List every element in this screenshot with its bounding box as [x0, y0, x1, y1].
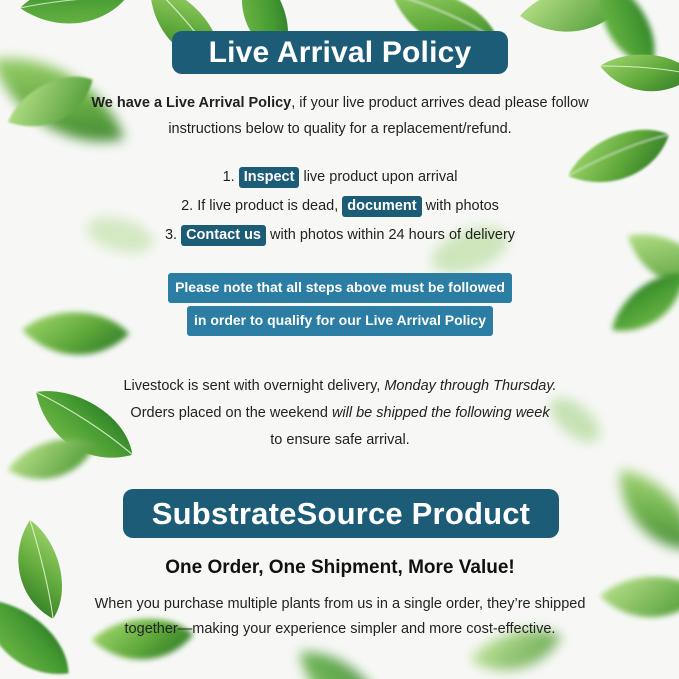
substrate-source-product-banner: SubstrateSource Product — [123, 489, 559, 538]
list-item: 3. Contact us with photos within 24 hour… — [110, 221, 570, 250]
substrate-tagline: One Order, One Shipment, More Value! — [60, 557, 620, 579]
shipping-line-3: to ensure safe arrival. — [270, 432, 409, 448]
live-arrival-policy-banner: Live Arrival Policy — [172, 31, 508, 74]
step-text-before: If live product is dead, — [197, 198, 342, 214]
substrate-body-paragraph: When you purchase multiple plants from u… — [70, 592, 610, 642]
shipping-line-1-italic: Monday through Thursday. — [384, 378, 556, 394]
step-text-after: live product upon arrival — [299, 169, 457, 185]
shipping-line-2-plain: Orders placed on the weekend — [130, 405, 332, 421]
live-arrival-steps-list: 1. Inspect live product upon arrival 2. … — [110, 163, 570, 250]
live-arrival-intro-paragraph: We have a Live Arrival Policy, if your l… — [60, 90, 620, 142]
step-highlight: Contact us — [181, 225, 266, 246]
shipping-schedule-paragraph: Livestock is sent with overnight deliver… — [80, 373, 600, 454]
intro-prefix-bold: We have a Live Arrival Policy — [91, 95, 291, 111]
step-number: 1. — [223, 169, 235, 185]
policy-note-line-1: Please note that all steps above must be… — [168, 273, 512, 303]
policy-note-block: Please note that all steps above must be… — [110, 273, 570, 336]
step-text-after: with photos — [422, 198, 499, 214]
list-item: 2. If live product is dead, document wit… — [110, 192, 570, 221]
list-item: 1. Inspect live product upon arrival — [110, 163, 570, 192]
step-number: 2. — [181, 198, 193, 214]
step-number: 3. — [165, 227, 177, 243]
step-text-after: with photos within 24 hours of delivery — [266, 227, 515, 243]
shipping-line-2-italic: will be shipped the following week — [332, 405, 550, 421]
step-highlight: Inspect — [239, 167, 300, 188]
step-highlight: document — [342, 196, 421, 217]
shipping-line-1-plain: Livestock is sent with overnight deliver… — [123, 378, 384, 394]
policy-note-line-2: in order to qualify for our Live Arrival… — [187, 306, 493, 336]
